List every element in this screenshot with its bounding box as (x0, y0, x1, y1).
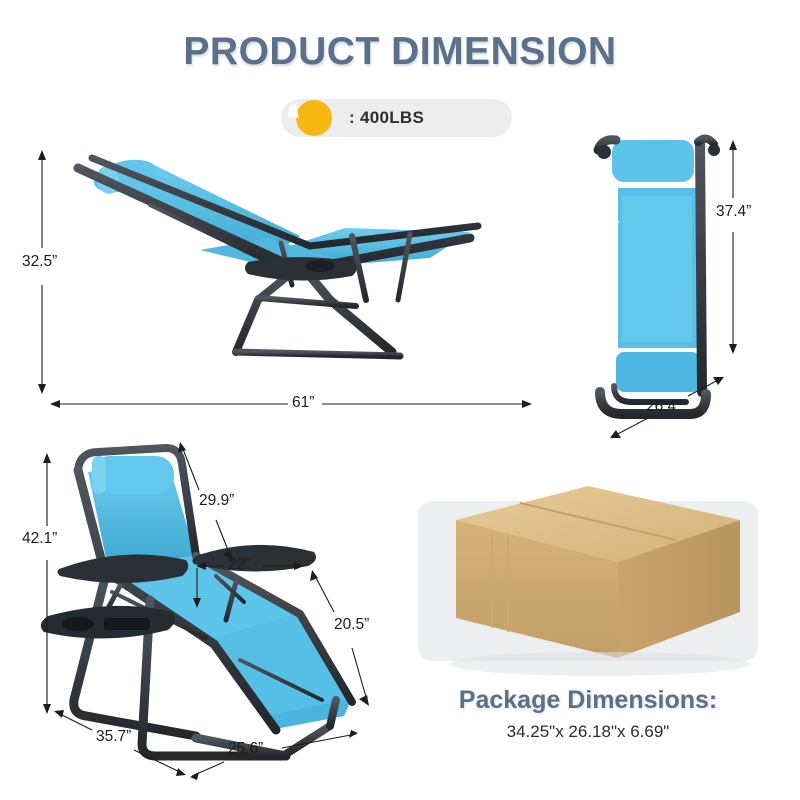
cardboard-box-illustration (0, 0, 800, 800)
package-dimensions-title: Package Dimensions: (418, 686, 758, 715)
infographic-canvas: PRODUCT DIMENSION : 400LBS (0, 0, 800, 800)
package-dimensions-value: 34.25"x 26.18"x 6.69" (418, 722, 758, 742)
